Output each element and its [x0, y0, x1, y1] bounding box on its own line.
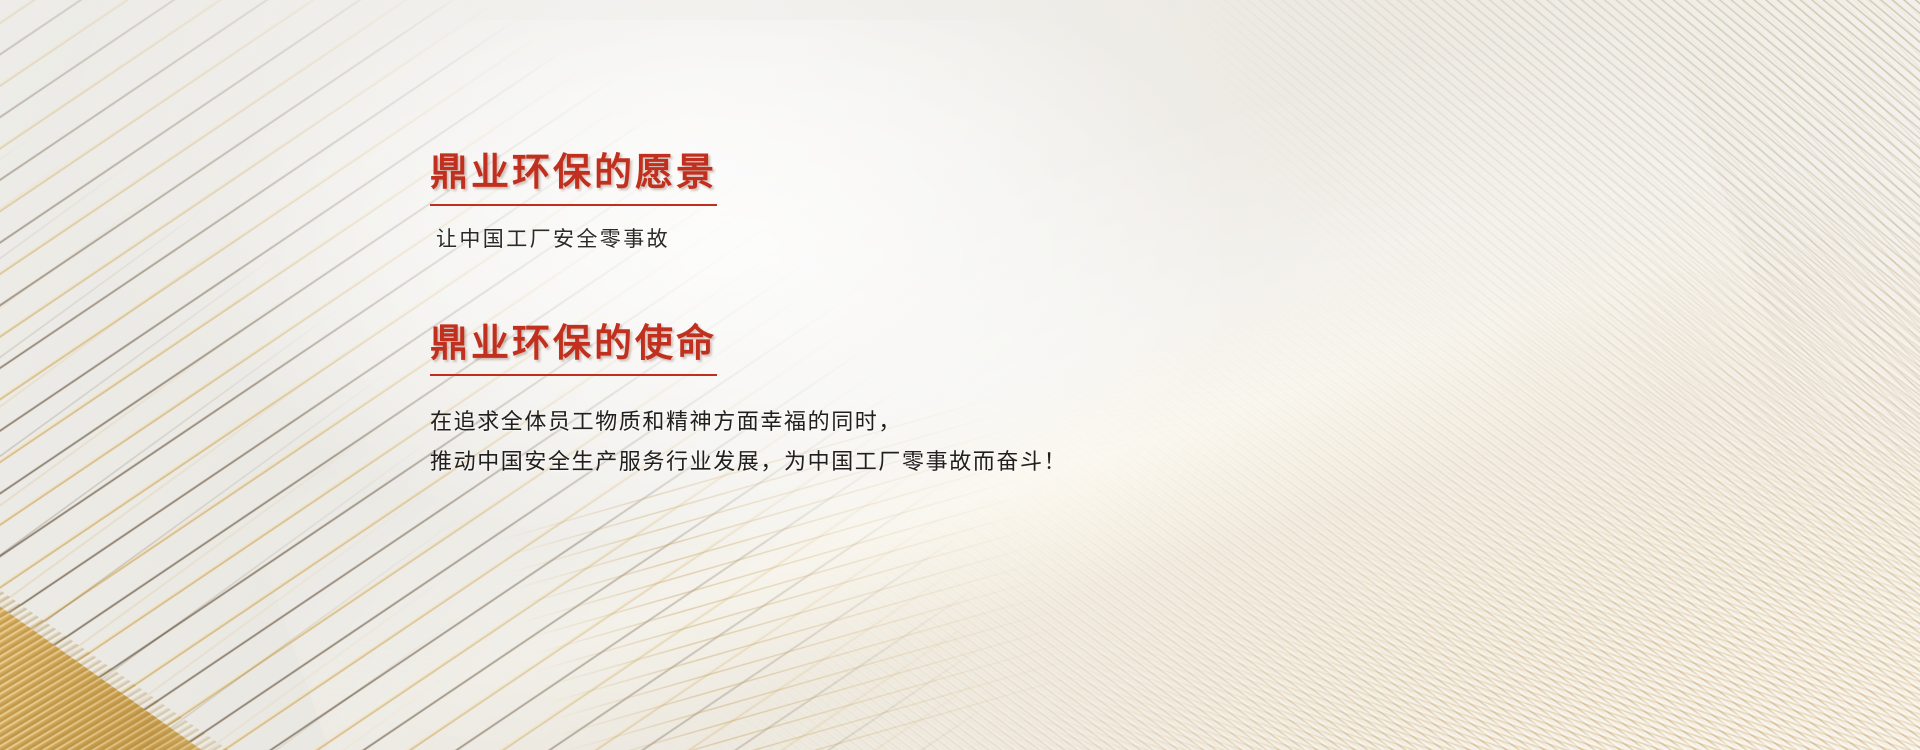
banner-text-content: 鼎业环保的愿景 让中国工厂安全零事故 鼎业环保的使命 在追求全体员工物质和精神方…	[430, 152, 1450, 482]
vision-mission-banner: 鼎业环保的愿景 让中国工厂安全零事故 鼎业环保的使命 在追求全体员工物质和精神方…	[0, 0, 1920, 750]
mission-line-2: 推动中国安全生产服务行业发展，为中国工厂零事故而奋斗！	[430, 442, 1450, 482]
vision-heading: 鼎业环保的愿景	[430, 152, 717, 206]
vision-subtitle: 让中国工厂安全零事故	[436, 223, 1450, 253]
vision-block: 鼎业环保的愿景 让中国工厂安全零事故	[430, 152, 1450, 253]
mission-heading: 鼎业环保的使命	[430, 323, 717, 377]
mission-description: 在追求全体员工物质和精神方面幸福的同时， 推动中国安全生产服务行业发展，为中国工…	[430, 402, 1450, 482]
mission-line-1: 在追求全体员工物质和精神方面幸福的同时，	[430, 402, 1450, 442]
mission-block: 鼎业环保的使命 在追求全体员工物质和精神方面幸福的同时， 推动中国安全生产服务行…	[430, 323, 1450, 483]
